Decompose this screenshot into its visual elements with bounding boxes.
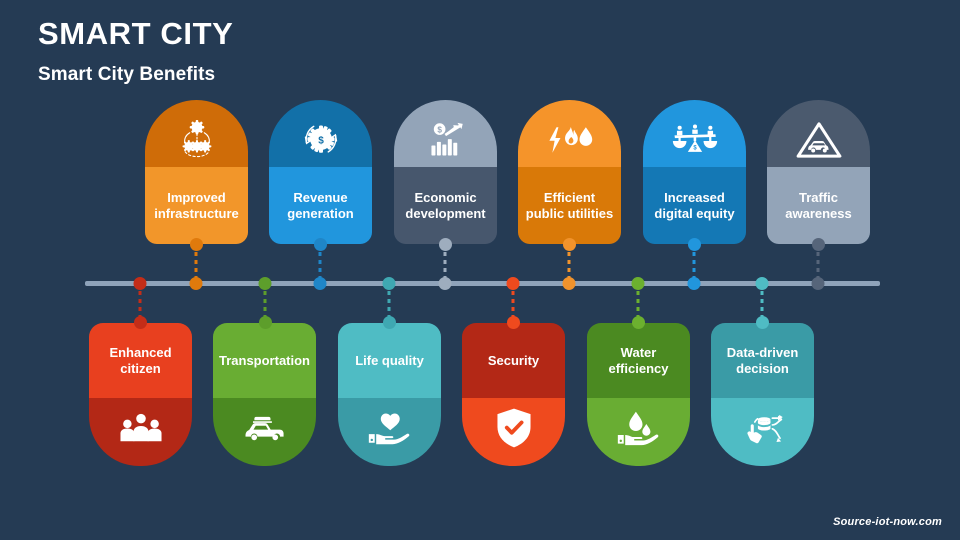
card-label: Revenue generation: [275, 190, 366, 222]
shield-check-icon: [491, 407, 537, 449]
timeline-dot: [812, 277, 825, 290]
card-label-area: Security: [462, 323, 565, 398]
connector-dot: [259, 316, 272, 329]
card-label: Efficient public utilities: [524, 190, 615, 222]
timeline-dot: [190, 277, 203, 290]
connector-dot: [190, 238, 203, 251]
timeline-dot: [563, 277, 576, 290]
svg-text:$: $: [318, 135, 324, 146]
card-label-area: Data-driven decision: [711, 323, 814, 398]
connector-dot: [383, 316, 396, 329]
card-label-area: Economic development: [394, 167, 497, 244]
card-icon-area: $: [394, 100, 497, 167]
hand-water-drop-icon: [616, 407, 662, 449]
source-attribution: Source-iot-now.com: [833, 516, 942, 528]
card-label: Life quality: [355, 353, 424, 369]
connector-dot: [314, 238, 327, 251]
card-label-area: Efficient public utilities: [518, 167, 621, 244]
card-label-area: Water efficiency: [587, 323, 690, 398]
page-title: SMART CITY: [38, 16, 233, 52]
card-label: Transportation: [219, 353, 310, 369]
card-label: Water efficiency: [592, 345, 685, 377]
benefit-card-increased-digital-equity[interactable]: $ Increased digital equity: [643, 100, 746, 244]
timeline-dot: [383, 277, 396, 290]
card-label: Improved infrastructure: [151, 190, 242, 222]
benefit-card-efficient-public-utilities[interactable]: Efficient public utilities: [518, 100, 621, 244]
connector-dot: [563, 238, 576, 251]
card-label: Enhanced citizen: [94, 345, 187, 377]
timeline-dot: [134, 277, 147, 290]
benefit-card-transportation[interactable]: Transportation: [213, 323, 316, 466]
card-label-area: Enhanced citizen: [89, 323, 192, 398]
card-icon-area: [587, 398, 690, 466]
money-gear-cycle-icon: $: [298, 119, 344, 161]
timeline-dot: [688, 277, 701, 290]
timeline-dot: [756, 277, 769, 290]
energy-utilities-icon: [547, 119, 593, 161]
balance-scale-equity-icon: $: [672, 119, 718, 161]
timeline-dot: [259, 277, 272, 290]
card-icon-area: [338, 398, 441, 466]
card-icon-area: [518, 100, 621, 167]
card-label-area: Improved infrastructure: [145, 167, 248, 244]
benefit-card-traffic-awareness[interactable]: Traffic awareness: [767, 100, 870, 244]
card-icon-area: $: [269, 100, 372, 167]
svg-text:$: $: [437, 125, 442, 134]
gear-network-icon: [174, 119, 220, 161]
data-touch-flow-icon: [740, 407, 786, 449]
benefit-card-water-efficiency[interactable]: Water efficiency: [587, 323, 690, 466]
card-label: Traffic awareness: [773, 190, 864, 222]
card-icon-area: [462, 398, 565, 466]
benefit-card-data-driven-decision[interactable]: Data-driven decision: [711, 323, 814, 466]
card-label: Increased digital equity: [649, 190, 740, 222]
card-label-area: Increased digital equity: [643, 167, 746, 244]
benefit-card-economic-development[interactable]: $ Economic development: [394, 100, 497, 244]
connector-dot: [507, 316, 520, 329]
card-icon-area: [767, 100, 870, 167]
card-label-area: Transportation: [213, 323, 316, 398]
page-subtitle: Smart City Benefits: [38, 62, 233, 88]
card-icon-area: [89, 398, 192, 466]
timeline-dot: [439, 277, 452, 290]
card-label: Data-driven decision: [716, 345, 809, 377]
card-icon-area: [213, 398, 316, 466]
card-label: Security: [488, 353, 539, 369]
card-icon-area: [145, 100, 248, 167]
card-label-area: Revenue generation: [269, 167, 372, 244]
connector-dot: [134, 316, 147, 329]
car-roof-rack-icon: [242, 407, 288, 449]
car-warning-triangle-icon: [796, 119, 842, 161]
card-icon-area: [711, 398, 814, 466]
connector-dot: [632, 316, 645, 329]
card-icon-area: $: [643, 100, 746, 167]
timeline-dot: [507, 277, 520, 290]
benefit-card-life-quality[interactable]: Life quality: [338, 323, 441, 466]
connector-dot: [439, 238, 452, 251]
hand-heart-icon: [367, 407, 413, 449]
benefit-card-revenue-generation[interactable]: $ Revenue generation: [269, 100, 372, 244]
header-block: SMART CITY Smart City Benefits: [38, 16, 233, 88]
connector-dot: [688, 238, 701, 251]
benefit-card-enhanced-citizen[interactable]: Enhanced citizen: [89, 323, 192, 466]
timeline-dot: [314, 277, 327, 290]
people-group-icon: [118, 407, 164, 449]
card-label-area: Traffic awareness: [767, 167, 870, 244]
benefit-card-security[interactable]: Security: [462, 323, 565, 466]
benefit-card-improved-infrastructure[interactable]: Improved infrastructure: [145, 100, 248, 244]
connector-dot: [756, 316, 769, 329]
card-label: Economic development: [400, 190, 491, 222]
connector-dot: [812, 238, 825, 251]
card-label-area: Life quality: [338, 323, 441, 398]
timeline-dot: [632, 277, 645, 290]
growth-chart-dollar-icon: $: [423, 119, 469, 161]
